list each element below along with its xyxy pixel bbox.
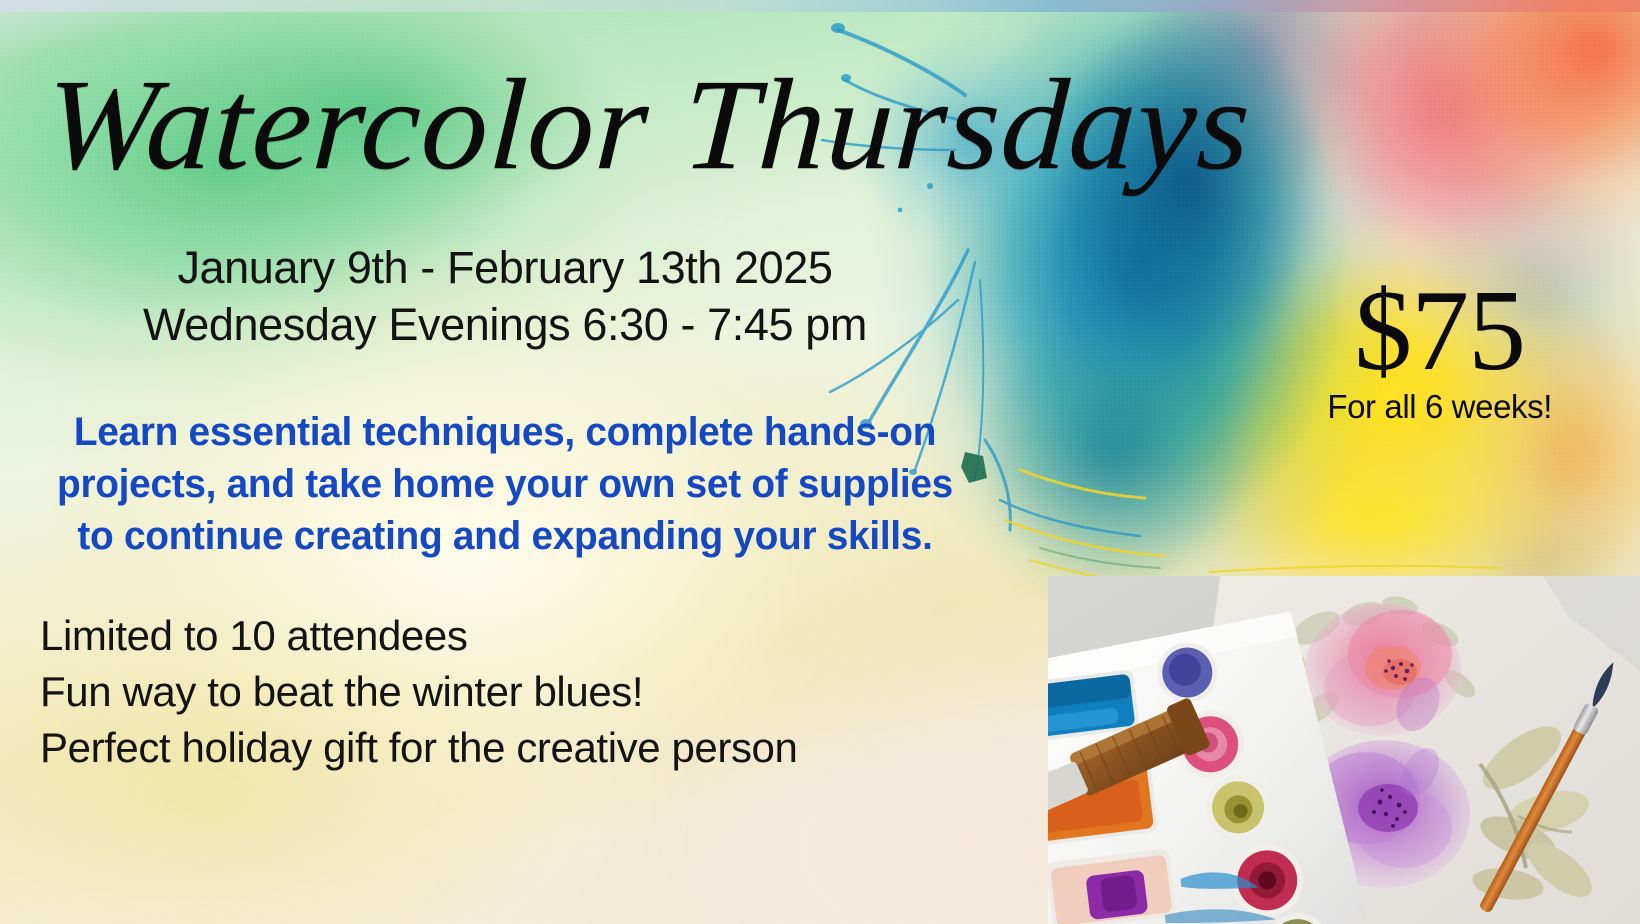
class-highlight-gift: Perfect holiday gift for the creative pe…	[40, 720, 797, 776]
class-description-line-1: Learn essential techniques, complete han…	[15, 406, 995, 458]
class-description-block: Learn essential techniques, complete han…	[15, 406, 995, 562]
photo-illustration	[1048, 576, 1640, 924]
price-block: $75 For all 6 weeks!	[1327, 276, 1552, 426]
class-highlight-fun: Fun way to beat the winter blues!	[40, 664, 797, 720]
class-highlights-list: Limited to 10 attendees Fun way to beat …	[40, 608, 797, 776]
watercolor-class-flyer: Watercolor Thursdays January 9th - Febru…	[0, 0, 1640, 924]
price-note: For all 6 weeks!	[1327, 388, 1552, 426]
watercolor-supplies-photo	[1048, 576, 1640, 924]
class-dates-block: January 9th - February 13th 2025 Wednesd…	[0, 240, 1010, 353]
page-title: Watercolor Thursdays	[42, 60, 1254, 190]
class-date-range: January 9th - February 13th 2025	[0, 240, 1010, 297]
class-highlight-capacity: Limited to 10 attendees	[40, 608, 797, 664]
price-amount: $75	[1327, 276, 1552, 386]
class-description-line-2: projects, and take home your own set of …	[15, 458, 995, 510]
class-description-line-3: to continue creating and expanding your …	[15, 510, 995, 562]
class-meeting-time: Wednesday Evenings 6:30 - 7:45 pm	[0, 297, 1010, 354]
